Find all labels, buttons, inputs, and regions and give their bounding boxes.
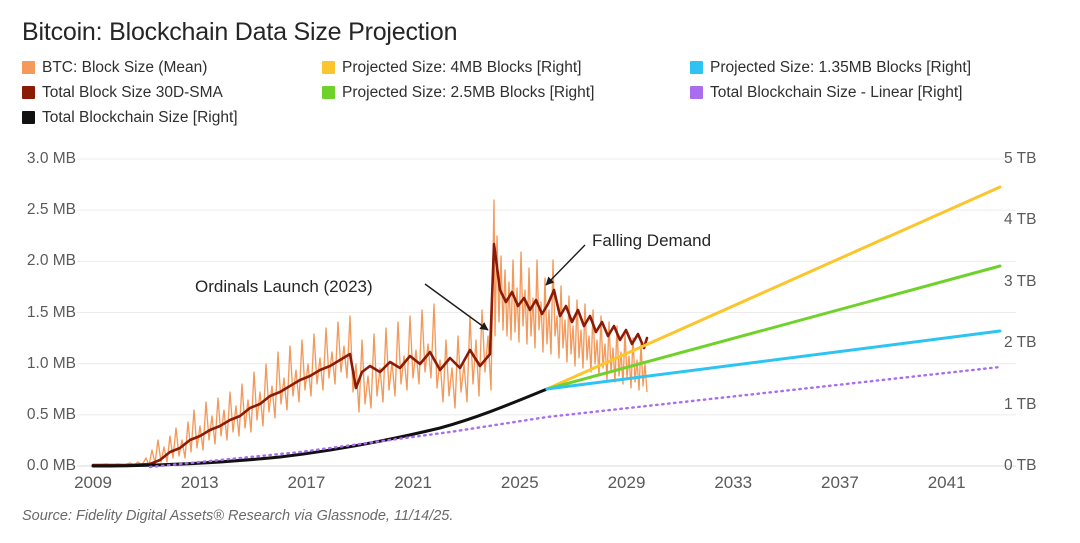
legend-item[interactable]: Total Blockchain Size [Right] xyxy=(22,110,322,126)
legend-item-label: Projected Size: 4MB Blocks [Right] xyxy=(342,60,582,76)
legend-item[interactable]: Total Block Size 30D-SMA xyxy=(22,85,322,101)
left-y-axis: 0.0 MB0.5 MB1.0 MB1.5 MB2.0 MB2.5 MB3.0 … xyxy=(0,140,76,485)
legend-swatch-icon xyxy=(22,86,35,99)
legend-swatch-icon xyxy=(22,61,35,74)
right-axis-tick-label: 2 TB xyxy=(1004,334,1036,352)
legend-item[interactable]: BTC: Block Size (Mean) xyxy=(22,60,322,76)
left-axis-tick-label: 1.5 MB xyxy=(27,304,76,322)
right-y-axis: 0 TB1 TB2 TB3 TB4 TB5 TB xyxy=(1004,140,1080,485)
x-axis: 200920132017202120252029203320372041 xyxy=(0,470,1080,504)
page-title: Bitcoin: Blockchain Data Size Projection xyxy=(22,18,457,47)
series-btc-block-size-mean xyxy=(93,200,647,465)
legend-item[interactable]: Total Blockchain Size - Linear [Right] xyxy=(690,85,1050,101)
x-axis-tick-label: 2017 xyxy=(287,473,325,493)
legend-item-label: BTC: Block Size (Mean) xyxy=(42,60,207,76)
plot-svg xyxy=(0,140,1080,485)
plot-area xyxy=(0,140,1080,485)
legend-swatch-icon xyxy=(690,86,703,99)
legend-swatch-icon xyxy=(322,86,335,99)
legend-item-label: Total Blockchain Size [Right] xyxy=(42,110,238,126)
chart-legend: BTC: Block Size (Mean)Projected Size: 4M… xyxy=(22,55,1062,130)
x-axis-tick-label: 2037 xyxy=(821,473,859,493)
x-axis-tick-label: 2029 xyxy=(608,473,646,493)
legend-item[interactable]: Projected Size: 4MB Blocks [Right] xyxy=(322,60,690,76)
x-axis-tick-label: 2025 xyxy=(501,473,539,493)
left-axis-tick-label: 2.0 MB xyxy=(27,252,76,270)
legend-item-label: Total Blockchain Size - Linear [Right] xyxy=(710,85,962,101)
x-axis-tick-label: 2009 xyxy=(74,473,112,493)
left-axis-tick-label: 1.0 MB xyxy=(27,355,76,373)
chart-annotation-label: Falling Demand xyxy=(592,231,711,251)
arrow-falling-demand xyxy=(546,245,585,285)
legend-item-label: Projected Size: 2.5MB Blocks [Right] xyxy=(342,85,594,101)
legend-item[interactable]: Projected Size: 2.5MB Blocks [Right] xyxy=(322,85,690,101)
left-axis-tick-label: 2.5 MB xyxy=(27,201,76,219)
x-axis-tick-label: 2021 xyxy=(394,473,432,493)
legend-swatch-icon xyxy=(22,111,35,124)
legend-item-label: Projected Size: 1.35MB Blocks [Right] xyxy=(710,60,971,76)
x-axis-tick-label: 2013 xyxy=(181,473,219,493)
x-axis-tick-label: 2041 xyxy=(928,473,966,493)
left-axis-tick-label: 0.5 MB xyxy=(27,406,76,424)
legend-swatch-icon xyxy=(322,61,335,74)
legend-item[interactable]: Projected Size: 1.35MB Blocks [Right] xyxy=(690,60,1050,76)
right-axis-tick-label: 4 TB xyxy=(1004,211,1036,229)
legend-swatch-icon xyxy=(690,61,703,74)
source-note: Source: Fidelity Digital Assets® Researc… xyxy=(22,508,453,524)
right-axis-tick-label: 5 TB xyxy=(1004,150,1036,168)
chart-annotation-label: Ordinals Launch (2023) xyxy=(195,277,373,297)
right-axis-tick-label: 3 TB xyxy=(1004,273,1036,291)
left-axis-tick-label: 3.0 MB xyxy=(27,150,76,168)
legend-item-label: Total Block Size 30D-SMA xyxy=(42,85,223,101)
chart-container: Bitcoin: Blockchain Data Size Projection… xyxy=(0,0,1080,543)
x-axis-tick-label: 2033 xyxy=(714,473,752,493)
right-axis-tick-label: 1 TB xyxy=(1004,396,1036,414)
